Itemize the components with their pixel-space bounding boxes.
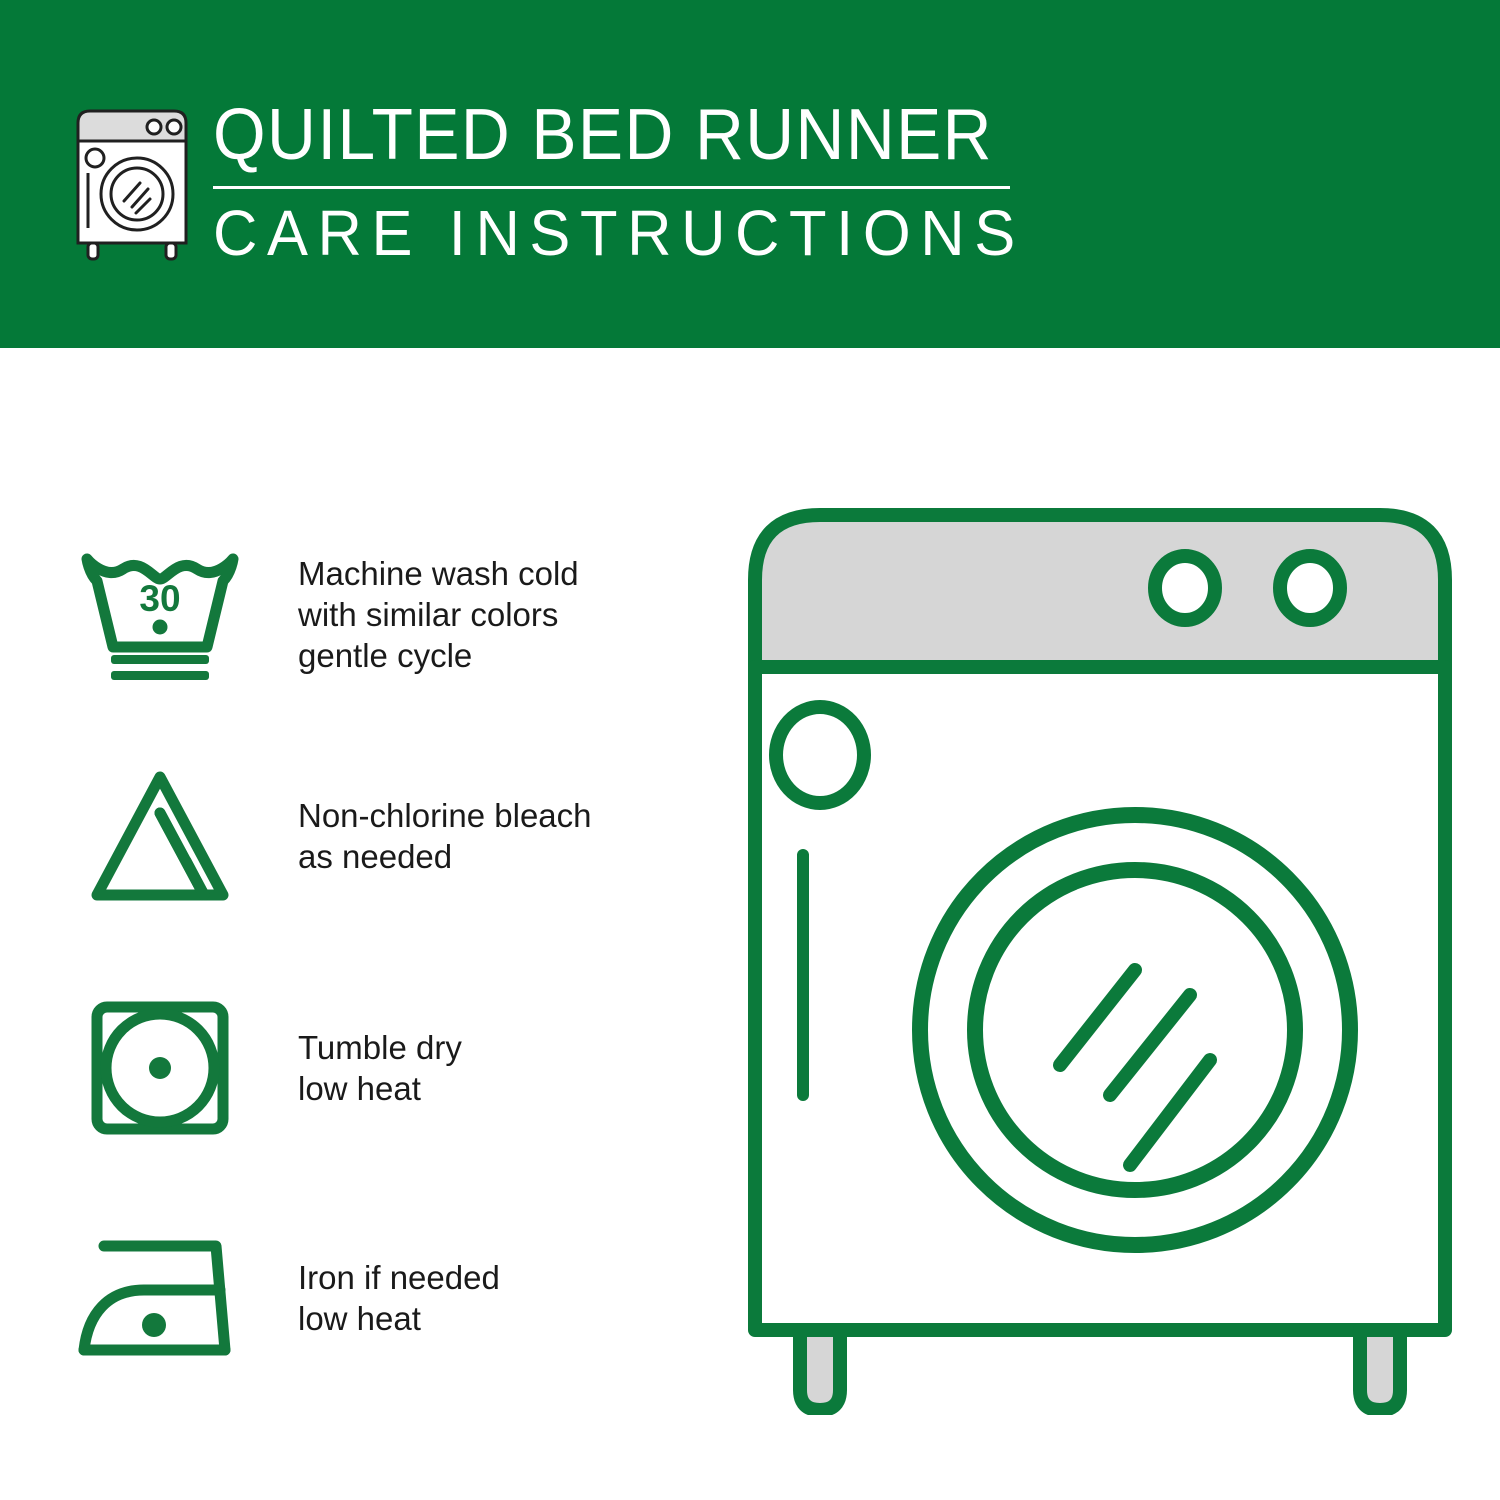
- wash-tub-30-icon: 30: [60, 534, 260, 694]
- iron-icon: [60, 1218, 260, 1378]
- washing-machine-icon: [62, 103, 202, 263]
- care-instruction-list: 30 Machine wash cold with similar colors…: [0, 348, 700, 1500]
- care-item-iron: Iron if needed low heat: [0, 1188, 700, 1408]
- care-item-machine-wash: 30 Machine wash cold with similar colors…: [0, 504, 700, 724]
- care-item-bleach: Non-chlorine bleach as needed: [0, 726, 700, 946]
- care-item-label: Iron if needed low heat: [298, 1257, 500, 1339]
- header-band: QUILTED BED RUNNER CARE INSTRUCTIONS: [0, 0, 1500, 348]
- tumble-dry-icon: [60, 988, 260, 1148]
- page-title: QUILTED BED RUNNER: [213, 96, 984, 174]
- care-item-tumble-dry: Tumble dry low heat: [0, 958, 700, 1178]
- care-item-label: Tumble dry low heat: [298, 1027, 462, 1109]
- header-text-block: QUILTED BED RUNNER CARE INSTRUCTIONS: [213, 96, 1033, 268]
- washing-machine-illustration: [735, 485, 1465, 1415]
- care-instructions-page: QUILTED BED RUNNER CARE INSTRUCTIONS 30: [0, 0, 1500, 1500]
- bleach-triangle-icon: [60, 756, 260, 916]
- page-subtitle: CARE INSTRUCTIONS: [213, 198, 1000, 268]
- wash-temperature-label: 30: [139, 578, 180, 619]
- header-divider: [213, 186, 1010, 189]
- care-item-label: Machine wash cold with similar colors ge…: [298, 553, 579, 676]
- care-item-label: Non-chlorine bleach as needed: [298, 795, 592, 877]
